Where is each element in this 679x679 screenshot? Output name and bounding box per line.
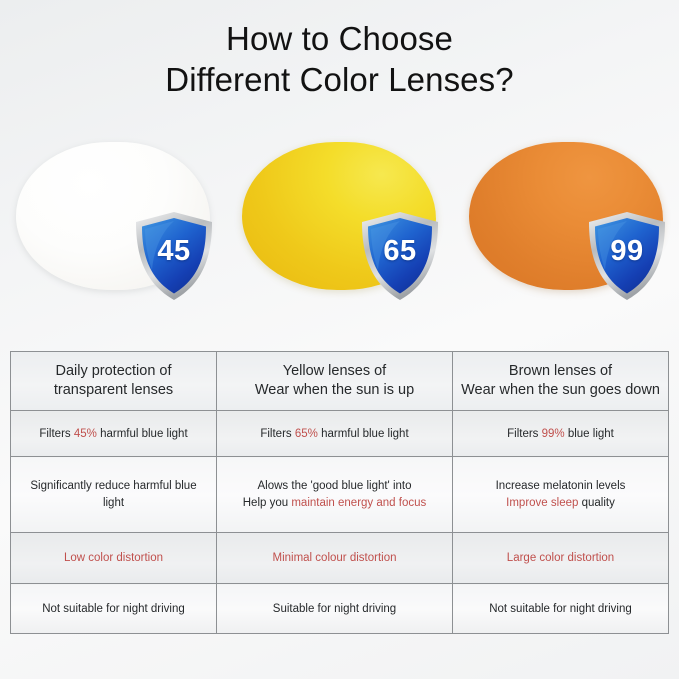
page-title: How to Choose Different Color Lenses? [0, 18, 679, 100]
table-cell: Suitable for night driving [217, 584, 453, 634]
table-cell: Increase melatonin levels Improve sleep … [453, 457, 669, 533]
header-line-1: Brown lenses of [461, 362, 660, 381]
header-line-2: Wear when the sun goes down [461, 381, 660, 400]
text-prefix: Help you [243, 497, 292, 509]
text-prefix: Filters [39, 428, 74, 440]
header-cell-yellow: Yellow lenses of Wear when the sun is up [217, 352, 453, 411]
benefit-line-1: Alows the 'good blue light' into [225, 478, 444, 495]
highlight-text: Minimal colour distortion [273, 552, 397, 564]
lens-item-clear: 45 [0, 128, 226, 323]
title-line-2: Different Color Lenses? [0, 59, 679, 100]
table-cell: Not suitable for night driving [453, 584, 669, 634]
table-cell: Filters 65% harmful blue light [217, 411, 453, 457]
table-row-night-driving: Not suitable for night driving Suitable … [11, 584, 669, 634]
text-suffix: harmful blue light [97, 428, 188, 440]
highlight-text: Large color distortion [507, 552, 614, 564]
text-suffix: harmful blue light [318, 428, 409, 440]
table-row-filtering: Filters 45% harmful blue light Filters 6… [11, 411, 669, 457]
highlight-percent: 99% [542, 428, 565, 440]
shield-badge-65: 65 [358, 210, 442, 302]
text-prefix: Filters [260, 428, 295, 440]
text-prefix: Filters [507, 428, 542, 440]
highlight-percent: 65% [295, 428, 318, 440]
table-cell: Not suitable for night driving [11, 584, 217, 634]
benefit-line-1: Increase melatonin levels [461, 478, 660, 495]
highlight-text: Improve sleep [506, 497, 578, 509]
table-row-distortion: Low color distortion Minimal colour dist… [11, 533, 669, 584]
benefit-line-2: Help you maintain energy and focus [225, 495, 444, 512]
lens-item-yellow: 65 [226, 128, 452, 323]
table-cell: Minimal colour distortion [217, 533, 453, 584]
title-line-1: How to Choose [0, 18, 679, 59]
header-cell-brown: Brown lenses of Wear when the sun goes d… [453, 352, 669, 411]
shield-badge-99: 99 [585, 210, 669, 302]
lens-item-brown: 99 [453, 128, 679, 323]
highlight-percent: 45% [74, 428, 97, 440]
shield-badge-45: 45 [132, 210, 216, 302]
header-line-2: Wear when the sun is up [225, 381, 444, 400]
header-line-1: Daily protection of [19, 362, 208, 381]
table-cell: Filters 45% harmful blue light [11, 411, 217, 457]
table-cell: Significantly reduce harmful blue light [11, 457, 217, 533]
lens-gallery: 45 [0, 128, 679, 323]
poster-root: How to Choose Different Color Lenses? [0, 0, 679, 679]
table-cell: Alows the 'good blue light' into Help yo… [217, 457, 453, 533]
benefit-line-2: Improve sleep quality [461, 495, 660, 512]
text-suffix: blue light [565, 428, 614, 440]
table-row-benefit: Significantly reduce harmful blue light … [11, 457, 669, 533]
benefit-line-1: Significantly reduce harmful blue light [19, 478, 208, 512]
table-cell: Low color distortion [11, 533, 217, 584]
table-header-row: Daily protection of transparent lenses Y… [11, 352, 669, 411]
lens-comparison-table: Daily protection of transparent lenses Y… [10, 351, 669, 634]
table-cell: Filters 99% blue light [453, 411, 669, 457]
table-cell: Large color distortion [453, 533, 669, 584]
text-suffix: quality [578, 497, 614, 509]
header-cell-clear: Daily protection of transparent lenses [11, 352, 217, 411]
header-line-2: transparent lenses [19, 381, 208, 400]
highlight-text: maintain energy and focus [291, 497, 426, 509]
header-line-1: Yellow lenses of [225, 362, 444, 381]
highlight-text: Low color distortion [64, 552, 163, 564]
